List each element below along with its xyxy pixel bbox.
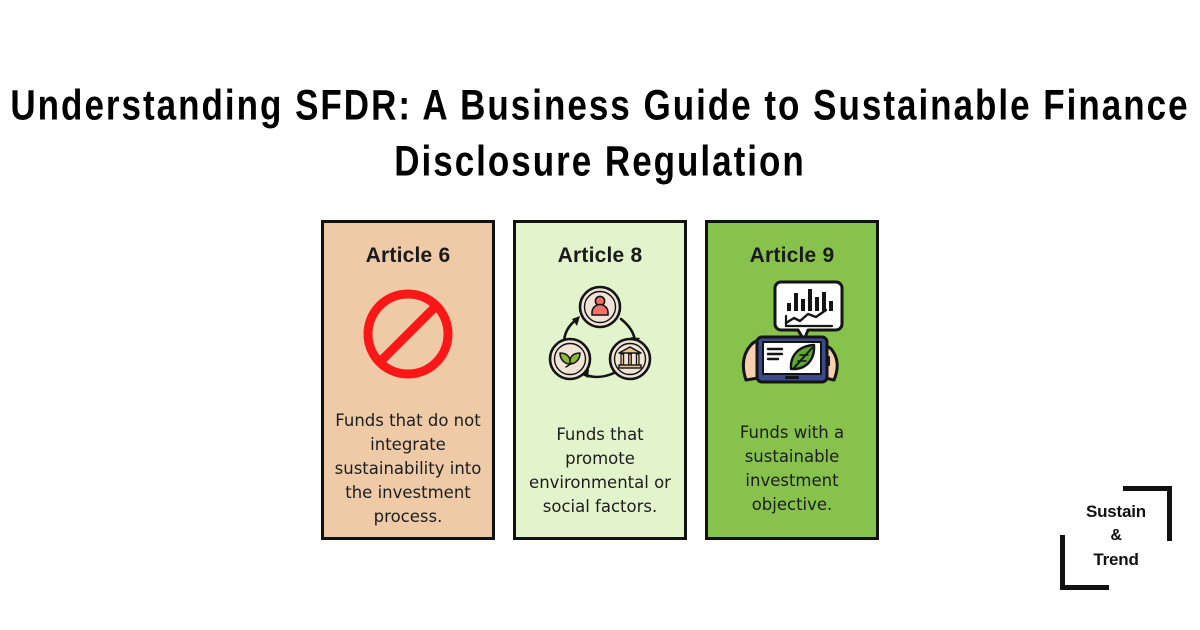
page-title-line-2: Disclosure Regulation: [0, 134, 1200, 190]
card-article-9-body: Funds with a sustainable investment obje…: [716, 421, 868, 517]
card-article-8-body: Funds that promote environmental or soci…: [524, 423, 676, 519]
card-article-8-heading: Article 8: [558, 244, 643, 268]
prohibition-sign-icon: [358, 278, 458, 390]
logo-line-sustain: Sustain: [1060, 500, 1172, 524]
card-article-6-body: Funds that do not integrate sustainabili…: [332, 409, 484, 529]
logo-line-trend: Trend: [1060, 548, 1172, 572]
logo-text: Sustain & Trend: [1060, 500, 1172, 572]
card-article-9[interactable]: Article 9: [705, 220, 879, 540]
card-article-6[interactable]: Article 6 Funds that do not integrate su…: [321, 220, 495, 540]
logo-line-ampersand: &: [1060, 524, 1172, 548]
card-article-8[interactable]: Article 8: [513, 220, 687, 540]
tablet-sustainability-report-icon: [736, 276, 848, 390]
esg-cycle-icon: [547, 282, 653, 390]
sfdr-article-cards: Article 6 Funds that do not integrate su…: [321, 220, 879, 540]
card-article-9-heading: Article 9: [750, 244, 835, 268]
card-article-6-heading: Article 6: [366, 244, 451, 268]
brand-logo[interactable]: Sustain & Trend: [1060, 486, 1172, 590]
page-title: Understanding SFDR: A Business Guide to …: [0, 78, 1200, 180]
page-title-line-1: Understanding SFDR: A Business Guide to …: [0, 78, 1200, 134]
